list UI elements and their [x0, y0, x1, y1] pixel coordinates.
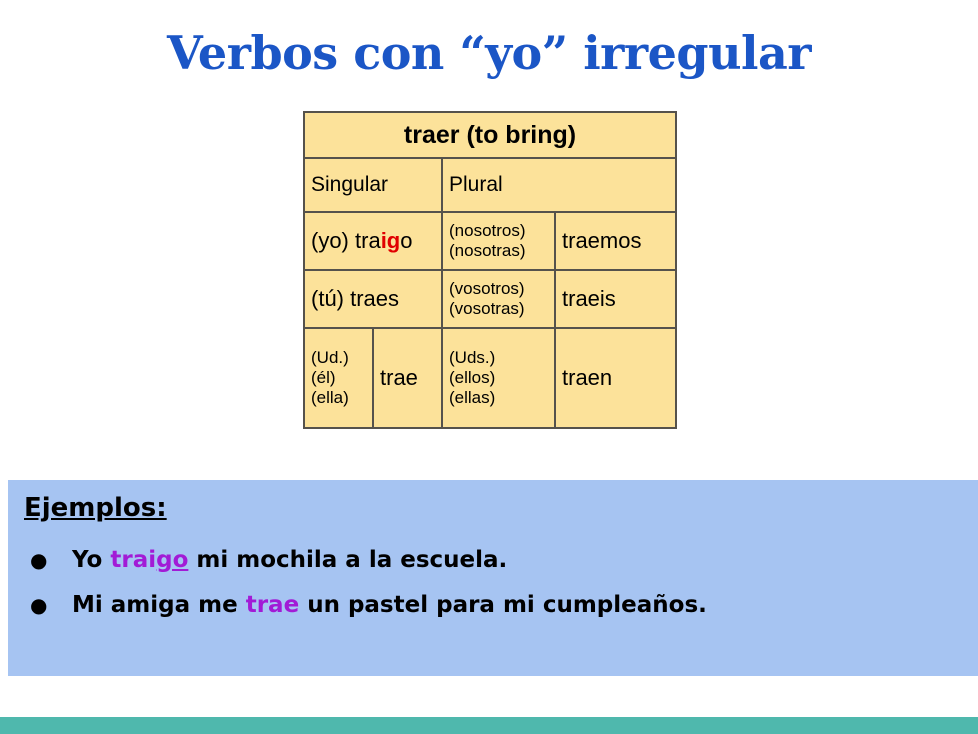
cell-nosotros-form: traemos [555, 212, 676, 270]
examples-heading: Ejemplos: [24, 493, 167, 523]
cell-vosotros-pronoun: (vosotros) (vosotras) [442, 270, 555, 328]
table-row: (Ud.) (él) (ella) trae (Uds.) (ellos) (e… [304, 328, 676, 428]
table-row-headers: Singular Plural [304, 158, 676, 212]
table-row-caption: traer (to bring) [304, 112, 676, 158]
example-verb-ending: go [156, 547, 188, 573]
cell-ustedes-pronoun: (Uds.) (ellos) (ellas) [442, 328, 555, 428]
table-row: (tú) traes (vosotros) (vosotras) traeis [304, 270, 676, 328]
page-title: Verbos con “yo” irregular [0, 24, 978, 82]
column-header-plural: Plural [442, 158, 676, 212]
table-row: (yo) traigo (nosotros) (nosotras) traemo… [304, 212, 676, 270]
examples-list: ●Yo traigo mi mochila a la escuela. ●Mi … [30, 538, 707, 628]
column-header-singular: Singular [304, 158, 442, 212]
list-item: ●Mi amiga me trae un pastel para mi cump… [30, 583, 707, 628]
pronoun-line: (vosotros) [449, 279, 548, 299]
conjugation-table: traer (to bring) Singular Plural (yo) tr… [303, 111, 677, 429]
example-text-post: mi mochila a la escuela. [188, 547, 507, 573]
cell-usted-pronoun: (Ud.) (él) (ella) [304, 328, 373, 428]
pronoun-line: (ellos) [449, 368, 548, 388]
cell-yo-form: (yo) traigo [304, 212, 442, 270]
table-caption: traer (to bring) [304, 112, 676, 158]
cell-tu-form: (tú) traes [304, 270, 442, 328]
example-text-pre: Yo [72, 547, 110, 573]
pronoun-line: (él) [311, 368, 366, 388]
example-text-post: un pastel para mi cumpleaños. [299, 592, 707, 618]
cell-nosotros-pronoun: (nosotros) (nosotras) [442, 212, 555, 270]
yo-form-prefix: (yo) tra [311, 228, 381, 253]
list-item: ●Yo traigo mi mochila a la escuela. [30, 538, 707, 583]
bullet-icon: ● [30, 583, 72, 628]
example-verb: trae [246, 592, 299, 618]
pronoun-line: (ellas) [449, 388, 548, 408]
pronoun-line: (Ud.) [311, 348, 366, 368]
pronoun-line: (vosotras) [449, 299, 548, 319]
example-verb: trai [110, 547, 156, 573]
footer-accent-bar [0, 717, 978, 734]
cell-usted-form: trae [373, 328, 442, 428]
yo-form-highlight: ig [381, 228, 401, 253]
pronoun-line: (nosotros) [449, 221, 548, 241]
pronoun-line: (ella) [311, 388, 366, 408]
yo-form-suffix: o [400, 228, 412, 253]
pronoun-line: (nosotras) [449, 241, 548, 261]
examples-panel: Ejemplos: ●Yo traigo mi mochila a la esc… [8, 480, 978, 676]
cell-ustedes-form: traen [555, 328, 676, 428]
example-text-pre: Mi amiga me [72, 592, 246, 618]
pronoun-line: (Uds.) [449, 348, 548, 368]
bullet-icon: ● [30, 538, 72, 583]
cell-vosotros-form: traeis [555, 270, 676, 328]
